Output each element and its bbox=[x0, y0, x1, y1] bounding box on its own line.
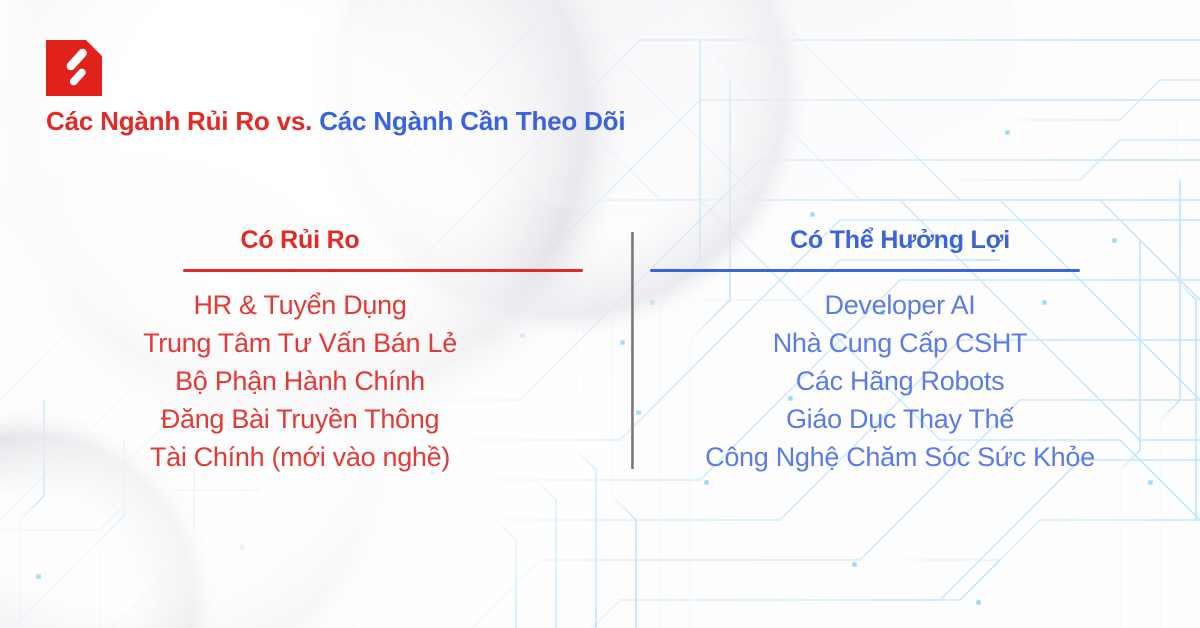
list-item: Công Nghệ Chăm Sóc Sức Khỏe bbox=[600, 438, 1200, 476]
list-item: Các Hãng Robots bbox=[600, 362, 1200, 400]
comparison-columns: Có Rủi Ro HR & Tuyển Dụng Trung Tâm Tư V… bbox=[0, 222, 1200, 492]
list-item: Đăng Bài Truyền Thông bbox=[0, 400, 600, 438]
column-heading-at-risk: Có Rủi Ro bbox=[0, 222, 600, 258]
poster-canvas: Các Ngành Rủi Ro vs. Các Ngành Cần Theo … bbox=[0, 0, 1200, 628]
list-item: Tài Chính (mới vào nghề) bbox=[0, 438, 600, 476]
column-rule-may-benefit bbox=[650, 269, 1080, 272]
list-item: Trung Tâm Tư Vấn Bán Lẻ bbox=[0, 324, 600, 362]
list-may-benefit: Developer AI Nhà Cung Cấp CSHT Các Hãng … bbox=[600, 286, 1200, 476]
list-at-risk: HR & Tuyển Dụng Trung Tâm Tư Vấn Bán Lẻ … bbox=[0, 286, 600, 476]
column-at-risk: Có Rủi Ro HR & Tuyển Dụng Trung Tâm Tư V… bbox=[0, 222, 600, 476]
page-title-watch-part: Các Ngành Cần Theo Dõi bbox=[312, 106, 625, 136]
page-title: Các Ngành Rủi Ro vs. Các Ngành Cần Theo … bbox=[46, 104, 625, 138]
column-heading-may-benefit: Có Thể Hưởng Lợi bbox=[600, 222, 1200, 258]
list-item: Nhà Cung Cấp CSHT bbox=[600, 324, 1200, 362]
column-rule-at-risk bbox=[183, 269, 583, 272]
list-item: Bộ Phận Hành Chính bbox=[0, 362, 600, 400]
list-item: HR & Tuyển Dụng bbox=[0, 286, 600, 324]
brand-logo-icon bbox=[46, 40, 102, 96]
page-title-risk-part: Các Ngành Rủi Ro vs. bbox=[46, 106, 312, 136]
center-divider bbox=[631, 232, 634, 469]
column-may-benefit: Có Thể Hưởng Lợi Developer AI Nhà Cung C… bbox=[600, 222, 1200, 476]
list-item: Giáo Dục Thay Thế bbox=[600, 400, 1200, 438]
list-item: Developer AI bbox=[600, 286, 1200, 324]
